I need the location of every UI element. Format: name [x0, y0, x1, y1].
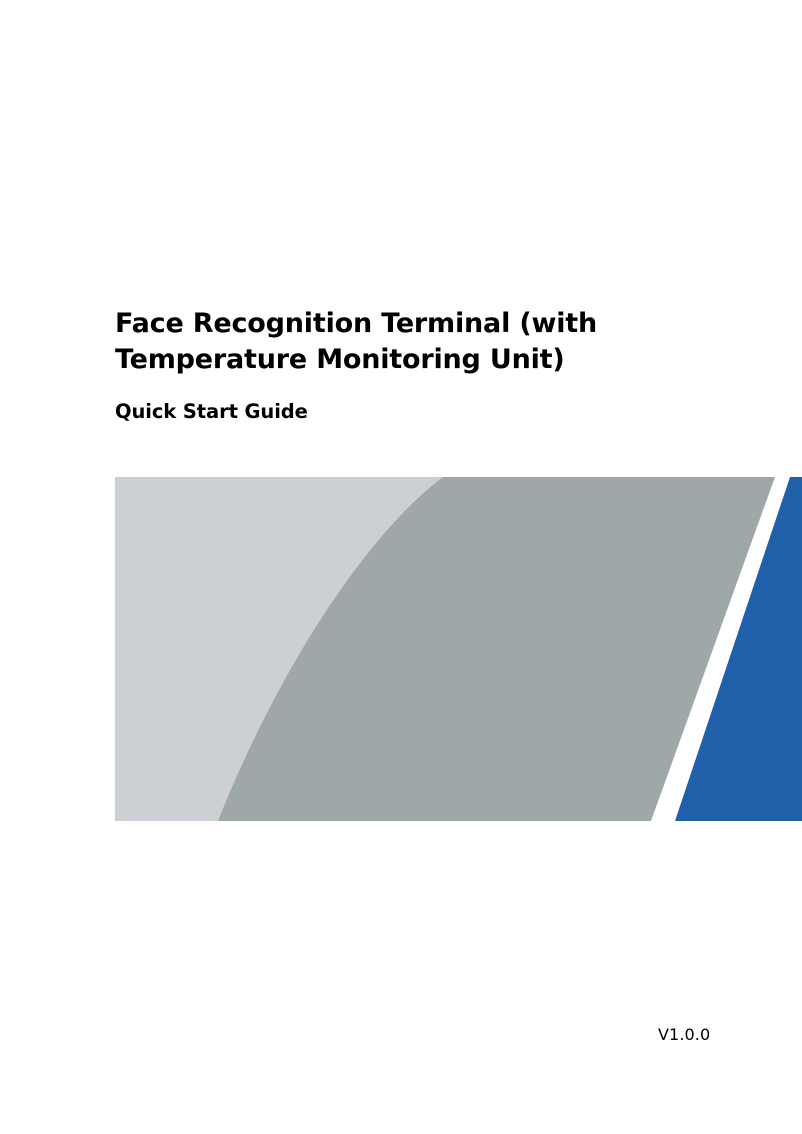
title-block: Face Recognition Terminal (with Temperat… — [115, 306, 655, 425]
page-subtitle: Quick Start Guide — [115, 378, 655, 425]
cover-page: Face Recognition Terminal (with Temperat… — [0, 0, 802, 1134]
cover-banner-svg — [115, 477, 802, 821]
cover-banner-graphic — [115, 477, 802, 821]
page-title: Face Recognition Terminal (with Temperat… — [115, 306, 655, 378]
version-label: V1.0.0 — [658, 1025, 710, 1045]
